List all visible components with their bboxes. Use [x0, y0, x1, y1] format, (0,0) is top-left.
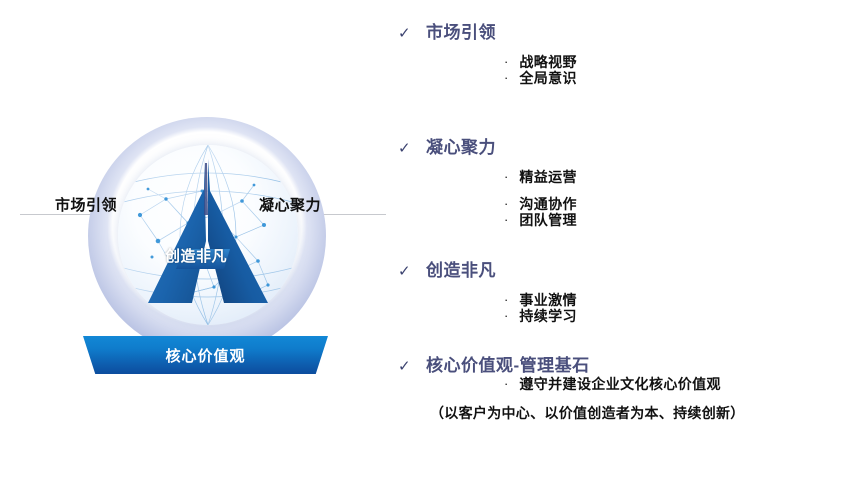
- bullet-icon: ·: [504, 309, 508, 322]
- a-logo-mark: [118, 145, 298, 325]
- bullet-icon: ·: [504, 377, 508, 390]
- core-values-emblem: 市场引领 凝心聚力 创造非凡 核心价值观: [0, 0, 390, 485]
- bullet-icon: ·: [504, 170, 508, 183]
- check-icon: ✓: [398, 264, 412, 279]
- bullet-icon: ·: [504, 55, 508, 68]
- outline-group-core-values: ✓ 核心价值观-管理基石 · 遵守并建设企业文化核心价值观 （以客户为中心、以价…: [392, 357, 866, 423]
- list-item-label: 遵守并建设企业文化核心价值观: [519, 376, 721, 392]
- check-icon: ✓: [398, 359, 412, 374]
- outline-heading-row: ✓ 创造非凡: [392, 262, 866, 281]
- list-item: · 全局意识: [392, 70, 866, 86]
- list-item-label: 战略视野: [519, 54, 577, 70]
- outline-heading-row: ✓ 凝心聚力: [392, 139, 866, 158]
- outline-heading-label: 创造非凡: [426, 262, 496, 281]
- emblem-label-right: 凝心聚力: [259, 194, 321, 215]
- list-item: · 战略视野: [392, 54, 866, 70]
- list-item-label: 全局意识: [519, 70, 577, 86]
- bullet-icon: ·: [504, 213, 508, 226]
- list-item: · 团队管理: [392, 212, 866, 228]
- list-item-label: 持续学习: [519, 308, 577, 324]
- core-values-banner-label: 核心价值观: [165, 345, 245, 366]
- check-icon: ✓: [398, 26, 412, 41]
- outline-heading-label: 核心价值观-管理基石: [426, 357, 590, 376]
- list-item: · 遵守并建设企业文化核心价值观: [392, 376, 866, 392]
- outline-group-cohesion: ✓ 凝心聚力 · 精益运营 · 沟通协作 · 团队管理: [392, 139, 866, 228]
- outline-group-extraordinary: ✓ 创造非凡 · 事业激情 · 持续学习: [392, 262, 866, 324]
- list-item-label: 精益运营: [519, 169, 577, 185]
- emblem-label-left: 市场引领: [55, 194, 117, 215]
- list-item-label: 事业激情: [519, 292, 577, 308]
- emblem-label-center: 创造非凡: [165, 245, 227, 266]
- list-item: · 沟通协作: [392, 196, 866, 212]
- list-item: · 持续学习: [392, 308, 866, 324]
- list-item-label: 沟通协作: [519, 196, 577, 212]
- outline-group-market-leadership: ✓ 市场引领 · 战略视野 · 全局意识: [392, 24, 866, 86]
- core-values-note-row: （以客户为中心、以价值创造者为本、持续创新）: [392, 403, 866, 423]
- bullet-icon: ·: [504, 71, 508, 84]
- list-item: · 精益运营: [392, 169, 866, 185]
- outline-heading-label: 市场引领: [426, 24, 496, 43]
- values-outline-list: ✓ 市场引领 · 战略视野 · 全局意识 ✓ 凝心聚力 · 精益运营: [392, 24, 866, 474]
- slide-canvas: 市场引领 凝心聚力 创造非凡 核心价值观 ✓ 市场引领 · 战略视野 · 全局意…: [0, 0, 866, 485]
- core-values-note-label: （以客户为中心、以价值创造者为本、持续创新）: [430, 405, 745, 421]
- list-item-label: 团队管理: [519, 212, 577, 228]
- check-icon: ✓: [398, 141, 412, 156]
- outline-heading-label: 凝心聚力: [426, 139, 496, 158]
- outline-heading-row: ✓ 核心价值观-管理基石: [392, 357, 866, 376]
- list-item: · 事业激情: [392, 292, 866, 308]
- outline-heading-row: ✓ 市场引领: [392, 24, 866, 43]
- core-values-banner: 核心价值观: [83, 336, 328, 374]
- bullet-icon: ·: [504, 293, 508, 306]
- bullet-icon: ·: [504, 197, 508, 210]
